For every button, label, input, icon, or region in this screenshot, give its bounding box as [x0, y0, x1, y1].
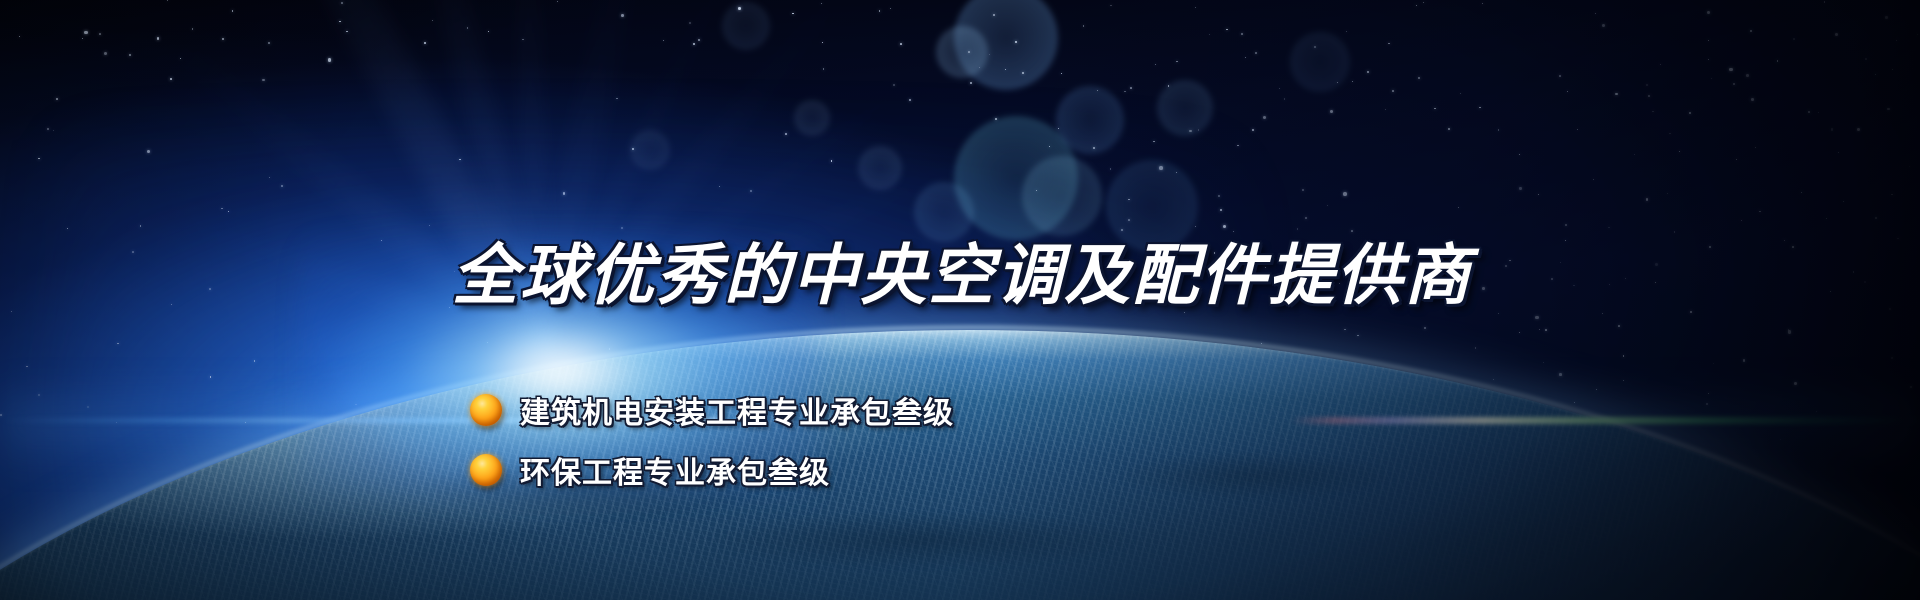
feature-label: 环保工程专业承包叁级: [520, 448, 830, 492]
list-item: 环保工程专业承包叁级: [470, 448, 954, 492]
hero-banner: 全球优秀的中央空调及配件提供商 建筑机电安装工程专业承包叁级 环保工程专业承包叁…: [0, 0, 1920, 600]
bullet-sphere-icon: [470, 394, 502, 426]
feature-list: 建筑机电安装工程专业承包叁级 环保工程专业承包叁级: [470, 388, 954, 508]
banner-headline: 全球优秀的中央空调及配件提供商: [452, 243, 1472, 309]
bullet-sphere-icon: [470, 454, 502, 486]
list-item: 建筑机电安装工程专业承包叁级: [470, 388, 954, 432]
banner-content: 全球优秀的中央空调及配件提供商 建筑机电安装工程专业承包叁级 环保工程专业承包叁…: [0, 0, 1920, 600]
feature-label: 建筑机电安装工程专业承包叁级: [520, 388, 954, 432]
